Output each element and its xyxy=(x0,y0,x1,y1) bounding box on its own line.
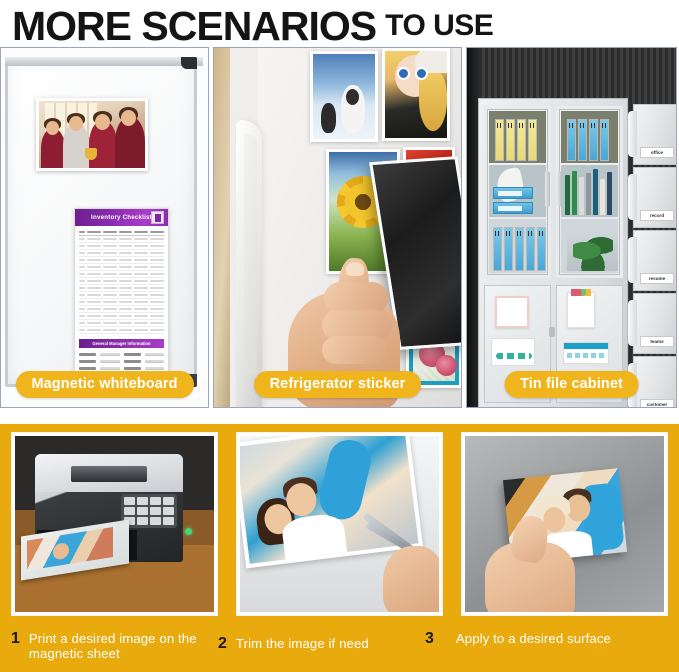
drawer-record[interactable]: record xyxy=(633,167,677,228)
document-logo xyxy=(151,211,164,224)
printer-button[interactable] xyxy=(150,507,161,515)
drawer-pull[interactable] xyxy=(628,111,637,157)
refrigerator-body xyxy=(258,48,461,407)
inventory-checklist-document: Inventory Checklist xyxy=(74,208,169,383)
cabinet-handle-right[interactable] xyxy=(557,171,562,207)
step-caption-1: 1 Print a desired image on the magnetic … xyxy=(11,620,218,672)
printed-photo-content xyxy=(27,527,113,571)
printer-button[interactable] xyxy=(124,497,135,505)
page-header: MORE SCENARIOS TO USE xyxy=(0,0,679,46)
cabinet-shelf-mid-right xyxy=(561,165,618,217)
step-images-row xyxy=(0,432,679,616)
cabinet-handle-left[interactable] xyxy=(545,171,550,207)
cabinet-shelf-top-right xyxy=(561,111,618,163)
cabinet-glass-door-left xyxy=(484,106,551,278)
document-table xyxy=(75,226,168,334)
printer-button[interactable] xyxy=(163,507,174,515)
book xyxy=(586,173,591,215)
document-field-row xyxy=(79,358,164,365)
potted-plant xyxy=(567,231,618,271)
hand-applying-magnet xyxy=(479,520,585,612)
table-row xyxy=(79,264,164,271)
binder xyxy=(515,227,524,271)
photo-head-2 xyxy=(69,116,83,131)
refrigerator-door-edge-inner xyxy=(244,134,257,374)
table-header-cell xyxy=(103,231,117,234)
table-row xyxy=(79,285,164,292)
step-caption-3: 3 Apply to a desired surface xyxy=(425,620,632,672)
cabinet-shelf-bottom-left xyxy=(489,219,546,273)
drawer-label-office: office xyxy=(640,147,674,158)
trimming-scene xyxy=(240,436,439,612)
storage-box xyxy=(493,187,533,199)
table-row xyxy=(79,278,164,285)
panel-label-tin-file-cabinet: Tin file cabinet xyxy=(504,371,639,398)
step-caption-2: 2 Trim the image if need xyxy=(218,620,425,672)
photo-head-1 xyxy=(46,121,59,135)
table-row xyxy=(79,292,164,299)
book xyxy=(572,171,577,215)
file-cabinet xyxy=(478,98,628,408)
file-cabinet-scene: office record resume teams xyxy=(467,48,676,407)
printer-button[interactable] xyxy=(163,497,174,505)
binder xyxy=(528,119,537,161)
drawer-pull[interactable] xyxy=(628,300,637,346)
thumb-nail xyxy=(346,262,364,276)
drawer-resume[interactable]: resume xyxy=(633,230,677,291)
table-header-cell xyxy=(150,231,164,234)
doll-hair xyxy=(419,71,447,131)
binder xyxy=(578,119,587,161)
info-card-magnet-green xyxy=(491,338,535,366)
printer-button[interactable] xyxy=(150,497,161,505)
step-number-2: 2 xyxy=(218,636,227,651)
step-text-2: Trim the image if need xyxy=(236,636,369,651)
storage-box xyxy=(493,202,533,214)
drawer-pull[interactable] xyxy=(628,174,637,220)
scenario-panel-tin-file-cabinet: office record resume teams xyxy=(466,47,677,408)
step-captions-row: 1 Print a desired image on the magnetic … xyxy=(0,620,679,672)
step-number-3: 3 xyxy=(425,631,434,646)
page-title-main: MORE SCENARIOS xyxy=(12,6,376,46)
drawer-label-resume: resume xyxy=(640,273,674,284)
scenario-panels-row: Inventory Checklist xyxy=(0,47,679,408)
table-row xyxy=(79,257,164,264)
photo-head-3 xyxy=(95,114,110,130)
cabinet-shelf-mid-left xyxy=(489,165,546,217)
document-field-row xyxy=(79,351,164,358)
step-text-3: Apply to a desired surface xyxy=(456,631,611,646)
table-row xyxy=(79,327,164,334)
printer-scene xyxy=(15,436,214,612)
book xyxy=(600,179,605,215)
scenario-panel-magnetic-whiteboard: Inventory Checklist xyxy=(0,47,209,408)
drawer-office[interactable]: office xyxy=(633,104,677,165)
document-section-header: General Manager Information xyxy=(79,339,164,348)
step-image-apply xyxy=(465,436,664,612)
table-row xyxy=(79,320,164,327)
binder xyxy=(567,119,576,161)
pink-note-magnet xyxy=(495,296,529,328)
step-image-trim xyxy=(240,436,439,612)
panel-label-refrigerator-sticker: Refrigerator sticker xyxy=(254,371,422,398)
step-image-card-trim xyxy=(236,432,443,616)
cabinet-lock-icon[interactable] xyxy=(549,327,555,337)
product-infographic: MORE SCENARIOS TO USE xyxy=(0,0,679,672)
rose-bloom-2 xyxy=(436,355,457,376)
doll-eye-right xyxy=(415,67,428,80)
info-card-magnet-teal xyxy=(563,342,609,364)
table-row xyxy=(79,313,164,320)
drawer-customer[interactable]: customer xyxy=(633,356,677,408)
printer-button[interactable] xyxy=(163,517,174,525)
printer-button[interactable] xyxy=(124,507,135,515)
team-photo-magnet xyxy=(36,98,148,171)
binder xyxy=(526,227,535,271)
book xyxy=(593,169,598,215)
whiteboard-corner-tr xyxy=(181,57,197,69)
photo-head-4 xyxy=(121,110,136,126)
table-row xyxy=(79,271,164,278)
photo-penguin-magnet xyxy=(310,51,378,142)
printer-button[interactable] xyxy=(137,517,148,525)
list-note-magnet xyxy=(567,292,595,328)
book xyxy=(579,177,584,215)
printer-button[interactable] xyxy=(150,517,161,525)
book-row xyxy=(565,169,612,215)
book xyxy=(565,175,570,215)
steps-section: 1 Print a desired image on the magnetic … xyxy=(0,424,679,672)
binder xyxy=(600,119,609,161)
printer-button[interactable] xyxy=(137,497,148,505)
whiteboard-scene: Inventory Checklist xyxy=(1,48,208,407)
table-row xyxy=(79,250,164,257)
hand-finger-ring xyxy=(322,336,388,364)
step-image-print xyxy=(15,436,214,612)
hand-holding-scissors xyxy=(383,546,439,612)
binder xyxy=(504,227,513,271)
printer-control-panel[interactable] xyxy=(121,494,177,528)
binder xyxy=(589,119,598,161)
table-row xyxy=(79,306,164,313)
step-text-1: Print a desired image on the magnetic sh… xyxy=(29,631,218,661)
document-section-title: General Manager Information xyxy=(92,341,150,346)
book xyxy=(607,172,612,215)
table-row xyxy=(79,243,164,250)
cabinet-shelf-top-left xyxy=(489,111,546,163)
photo-doll-magnet xyxy=(382,48,450,141)
table-header-cell xyxy=(119,231,133,234)
table-row xyxy=(79,299,164,306)
binder xyxy=(517,119,526,161)
refrigerator-scene xyxy=(214,48,461,407)
drawer-label-customer: customer xyxy=(640,399,674,408)
document-title: Inventory Checklist xyxy=(91,214,152,221)
binder xyxy=(495,119,504,161)
scissors xyxy=(355,508,439,612)
whiteboard: Inventory Checklist xyxy=(5,57,197,387)
drawer-label-record: record xyxy=(640,210,674,221)
table-header-cell xyxy=(87,231,101,234)
wall-wood-strip xyxy=(214,48,230,407)
drawer-teams[interactable]: teams xyxy=(633,293,677,354)
printer-button[interactable] xyxy=(137,507,148,515)
doll-eye-left xyxy=(397,67,410,80)
table-header-row xyxy=(79,229,164,236)
binder xyxy=(537,227,546,271)
photo-trophy xyxy=(85,148,97,160)
table-header-cell xyxy=(79,231,85,234)
printer-paper-slot xyxy=(71,466,147,482)
scenario-panel-refrigerator-sticker: Refrigerator sticker xyxy=(213,47,462,408)
panel-label-magnetic-whiteboard: Magnetic whiteboard xyxy=(15,371,193,398)
page-title-sub: TO USE xyxy=(385,6,493,46)
step-image-card-print xyxy=(11,432,218,616)
penguin-large xyxy=(341,85,365,133)
whiteboard-frame-top xyxy=(5,57,203,66)
table-header-cell xyxy=(134,231,148,234)
drawer-cabinet: office record resume teams xyxy=(633,104,677,408)
apply-scene xyxy=(465,436,664,612)
document-header: Inventory Checklist xyxy=(75,209,168,226)
binder xyxy=(493,227,502,271)
step-image-card-apply xyxy=(461,432,668,616)
step-number-1: 1 xyxy=(11,631,20,646)
penguin-small xyxy=(321,103,336,133)
table-row xyxy=(79,236,164,243)
cabinet-shelf-bottom-right xyxy=(561,219,618,273)
drawer-label-teams: teams xyxy=(640,336,674,347)
drawer-pull[interactable] xyxy=(628,237,637,283)
cabinet-glass-door-right xyxy=(556,106,623,278)
binder xyxy=(506,119,515,161)
printer-status-led xyxy=(185,528,192,535)
